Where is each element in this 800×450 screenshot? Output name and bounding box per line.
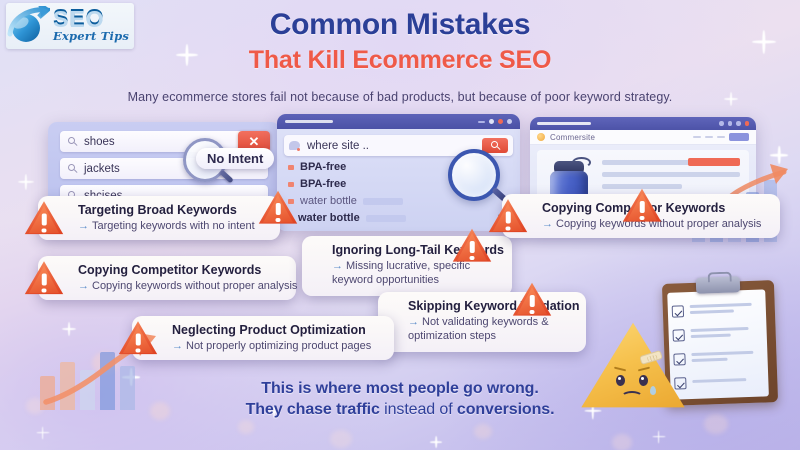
callout-title: Neglecting Product Optimization — [172, 323, 382, 337]
subtitle: Many ecommerce stores fail not because o… — [0, 90, 800, 104]
callout-title: Copying Competitor Keywords — [78, 263, 284, 277]
callout-desc-text: Copying keywords without proper analysis — [92, 280, 297, 292]
warning-triangle-icon — [512, 282, 552, 317]
warning-triangle-icon — [24, 201, 64, 236]
callout-targeting-broad-keywords[interactable]: Targeting Broad Keywords →Targeting keyw… — [38, 196, 280, 240]
arrow-icon: → — [332, 260, 343, 272]
site-name-label: Commersite — [550, 133, 595, 142]
redacted-bar — [366, 215, 406, 222]
browser-chrome-bar — [530, 117, 756, 130]
page-title: Common Mistakes That Kill Ecommerce SEO — [0, 8, 800, 75]
title-line-1: Common Mistakes — [0, 8, 800, 42]
arrow-icon: → — [408, 316, 419, 328]
long-tail-keyword-panel: where site .. BPA-free BPA-free water bo… — [277, 114, 520, 231]
panel-body: where site .. BPA-free BPA-free water bo… — [277, 129, 520, 231]
address-placeholder — [285, 120, 333, 123]
callout-description: →Targeting keywords with no intent — [78, 220, 268, 232]
warning-triangle-icon — [488, 199, 528, 234]
search-icon — [68, 137, 77, 146]
arrow-icon: → — [172, 340, 183, 352]
bokeh-dot — [612, 434, 632, 450]
footer-line-1: This is where most people go wrong. — [0, 380, 800, 398]
callout-desc-text: Missing lucrative, specific keyword oppo… — [332, 260, 470, 286]
title-line-2: That Kill Ecommerce SEO — [0, 46, 800, 75]
clipboard-clip-icon — [696, 276, 741, 294]
warning-triangle-icon — [622, 188, 662, 223]
callout-desc-text: Not validating keywords & optimization s… — [408, 316, 549, 342]
suggestion-text: water bottle — [288, 212, 360, 224]
callout-copying-competitor-keywords-left[interactable]: Copying Competitor Keywords →Copying key… — [38, 256, 296, 300]
search-query-text: jackets — [84, 163, 120, 175]
bullet-icon — [288, 165, 294, 170]
suggestion-text: water bottle — [300, 195, 357, 207]
callout-description: →Not validating keywords & optimization … — [408, 316, 574, 344]
bokeh-dot — [238, 420, 254, 434]
bokeh-dot — [474, 424, 492, 439]
search-input-value: where site .. — [307, 140, 369, 152]
warning-triangle-icon — [258, 190, 298, 225]
footer-line-2-bold-b: conversions. — [457, 401, 555, 418]
callout-description: →Not properly optimizing product pages — [172, 340, 382, 352]
callout-skipping-keyword-validation[interactable]: Skipping Keyword Validation →Not validat… — [378, 292, 586, 352]
browser-chrome-bar — [277, 114, 520, 129]
window-controls[interactable] — [478, 119, 512, 124]
address-placeholder — [537, 122, 591, 125]
nav-links[interactable] — [693, 133, 749, 141]
arrow-icon: → — [78, 280, 89, 292]
search-icon — [68, 164, 77, 173]
infographic-canvas: SEO Expert Tips Common Mistakes That Kil… — [0, 0, 800, 450]
footer-message: This is where most people go wrong. They… — [0, 380, 800, 419]
warning-triangle-icon — [24, 261, 64, 296]
footer-line-2: They chase traffic instead of conversion… — [0, 401, 800, 419]
sparkle-icon — [652, 430, 665, 443]
callout-desc-text: Not properly optimizing product pages — [186, 340, 371, 352]
callout-desc-text: Targeting keywords with no intent — [92, 220, 255, 232]
chat-bubble-icon — [289, 141, 300, 150]
warning-triangle-icon — [118, 321, 158, 356]
footer-line-2-plain: instead of — [380, 401, 457, 418]
footer-line-2-bold-a: They chase traffic — [246, 401, 380, 418]
sparkle-icon — [430, 436, 442, 448]
callout-description: →Missing lucrative, specific keyword opp… — [332, 260, 500, 288]
site-navbar: Commersite — [530, 130, 756, 145]
suggestion-row[interactable]: water bottle ✕ — [284, 212, 513, 224]
warning-triangle-icon — [452, 228, 492, 263]
suggestion-text: BPA-free — [300, 178, 346, 190]
arrow-icon: → — [542, 218, 553, 230]
suggestion-text: BPA-free — [300, 161, 346, 173]
redacted-bar — [363, 198, 403, 205]
sparkle-icon — [36, 426, 49, 439]
callout-description: →Copying keywords without proper analysi… — [78, 280, 284, 292]
checkbox-checked-icon — [672, 305, 684, 317]
window-controls[interactable] — [719, 121, 749, 126]
no-intent-badge: No Intent — [196, 148, 274, 169]
callout-neglecting-product-optimization[interactable]: Neglecting Product Optimization →Not pro… — [132, 316, 394, 360]
bokeh-dot — [330, 430, 352, 448]
favicon-icon — [537, 133, 545, 141]
arrow-icon: → — [78, 220, 89, 232]
search-query-text: shoes — [84, 136, 115, 148]
sparkle-icon — [18, 174, 34, 190]
bullet-icon — [288, 182, 294, 187]
callout-title: Targeting Broad Keywords — [78, 203, 268, 217]
nav-cta-button[interactable] — [729, 133, 749, 141]
